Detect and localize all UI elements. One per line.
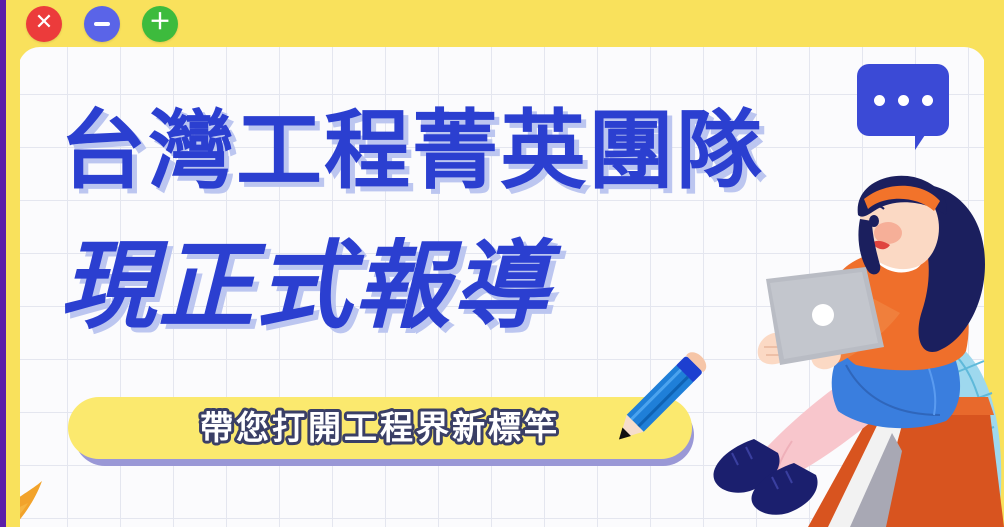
window-controls: ✕ ＋ — [0, 0, 260, 47]
bubble-dot — [922, 95, 933, 106]
minimize-button[interactable] — [84, 6, 120, 42]
svg-text:帶您打開工程界新標竿: 帶您打開工程界新標竿 — [200, 408, 560, 447]
add-button[interactable]: ＋ — [142, 6, 178, 42]
cheek — [874, 222, 902, 244]
pencil-icon — [600, 345, 710, 460]
headline-line-2: 現正式報導 — [60, 238, 550, 334]
close-icon: ✕ — [35, 12, 53, 34]
bubble-dot — [874, 95, 885, 106]
close-button[interactable]: ✕ — [26, 6, 62, 42]
speech-bubble-tail — [915, 132, 927, 150]
speech-bubble-icon — [857, 64, 949, 136]
woman-with-tablet-illustration — [688, 175, 1004, 527]
pencil-body — [627, 365, 693, 431]
left-purple-rule — [0, 0, 6, 527]
subtitle-pill: 帶您打開工程界新標竿 — [68, 397, 692, 459]
plus-icon: ＋ — [149, 12, 171, 34]
minus-icon — [94, 22, 110, 26]
banner-canvas: ✕ ＋ 台灣工程菁英團隊 現正式報導 帶您打開工程界新標竿 — [0, 0, 1004, 527]
subtitle-text-svg: 帶您打開工程界新標竿 — [80, 403, 680, 453]
bubble-dot — [898, 95, 909, 106]
headline-line-1: 台灣工程菁英團隊 — [60, 108, 764, 194]
speech-bubble-body — [857, 64, 949, 136]
left-yellow-edge — [6, 0, 20, 527]
